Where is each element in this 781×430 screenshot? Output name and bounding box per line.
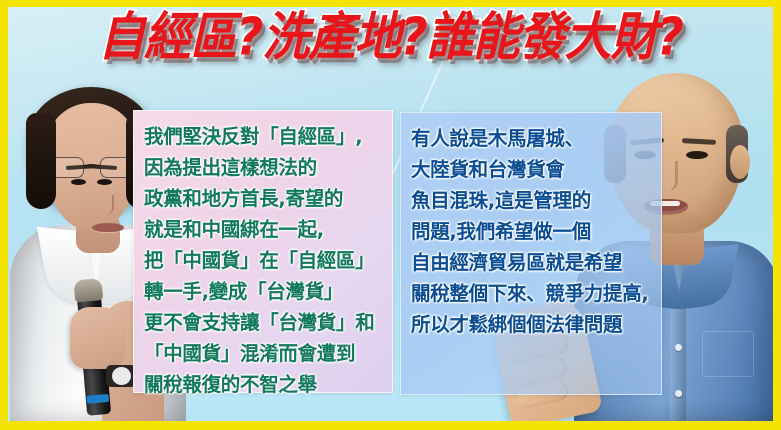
broadcast-stage: 我們堅決反對「自經區」, 因為提出這樣想法的 政黨和地方首長,寄望的 就是和中國… [8, 7, 773, 421]
right-speaker-eyebrow-right [682, 138, 716, 145]
quote-box-left-speaker: 我們堅決反對「自經區」, 因為提出這樣想法的 政黨和地方首長,寄望的 就是和中國… [133, 110, 393, 393]
right-speaker-eye-right [686, 151, 708, 159]
left-speaker-eye-right [97, 179, 112, 185]
left-speaker-eye-left [71, 179, 86, 185]
quote-left-line: 轉一手,變成「台灣貨」 [144, 276, 384, 307]
left-speaker-hand [70, 307, 124, 369]
glasses-icon [45, 157, 139, 179]
quote-right-line: 大陸貨和台灣貨會 [411, 154, 653, 185]
quote-right-line: 有人說是木馬屠城、 [411, 123, 653, 154]
quote-right-line: 關稅整個下來、競爭力提高, [411, 278, 653, 309]
quote-left-line: 更不會支持讓「台灣貨」和 [144, 307, 384, 338]
wristwatch-icon [106, 365, 136, 387]
quote-left-line: 關稅報復的不智之舉 [144, 369, 384, 400]
quote-left-line: 「中國貨」混淆而會遭到 [144, 338, 384, 369]
right-speaker-shirt-pocket [702, 331, 754, 377]
shirt-button [675, 344, 682, 351]
quote-left-line: 就是和中國綁在一起, [144, 214, 384, 245]
quote-left-line: 把「中國貨」在「自經區」 [144, 245, 384, 276]
left-speaker-mouth [92, 223, 124, 232]
shirt-button [675, 390, 682, 397]
quote-right-line: 問題,我們希望做一個 [411, 216, 653, 247]
quote-right-line: 魚目混珠,這是管理的 [411, 185, 653, 216]
right-speaker-ear [730, 145, 750, 179]
quote-right-line: 所以才鬆綁個個法律問題 [411, 309, 653, 340]
quote-left-line: 我們堅決反對「自經區」, [144, 121, 384, 152]
left-speaker-nose [102, 195, 114, 215]
glasses-bridge [84, 166, 101, 168]
tv-frame-border: 我們堅決反對「自經區」, 因為提出這樣想法的 政黨和地方首長,寄望的 就是和中國… [0, 0, 781, 430]
quote-left-line: 政黨和地方首長,寄望的 [144, 183, 384, 214]
quote-box-right-speaker: 有人說是木馬屠城、 大陸貨和台灣貨會 魚目混珠,這是管理的 問題,我們希望做一個… [400, 112, 662, 395]
quote-left-line: 因為提出這樣想法的 [144, 152, 384, 183]
left-speaker-hair-side-left [26, 113, 56, 209]
quote-right-line: 自由經濟貿易區就是希望 [411, 247, 653, 278]
